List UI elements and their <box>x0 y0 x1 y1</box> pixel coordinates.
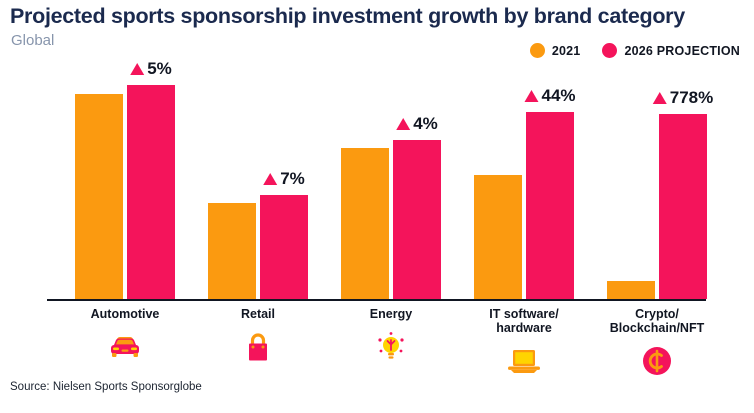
bar-2026-projection <box>526 112 574 299</box>
growth-label: 4% <box>396 114 438 134</box>
category-5: Crypto/ Blockchain/NFT <box>572 307 742 378</box>
bar-2021 <box>607 281 655 299</box>
growth-value: 7% <box>280 169 305 189</box>
bar-2021 <box>474 175 522 299</box>
source-note: Source: Nielsen Sports Sponsorglobe <box>10 381 202 393</box>
growth-label: 44% <box>524 86 575 106</box>
bar-chart-plot: 5%7%4%44%778% <box>0 0 754 305</box>
axis-baseline <box>47 299 706 301</box>
bar-2026-projection <box>659 114 707 299</box>
bar-2026-projection <box>260 195 308 299</box>
up-triangle-icon <box>524 90 538 102</box>
bar-2026-projection <box>393 140 441 299</box>
lightbulb-icon <box>376 331 406 363</box>
up-triangle-icon <box>396 118 410 130</box>
laptop-icon <box>506 347 542 375</box>
crypto-coin-icon <box>572 344 742 378</box>
growth-value: 778% <box>670 88 713 108</box>
crypto-coin-icon <box>641 345 673 377</box>
growth-label: 778% <box>653 88 713 108</box>
bar-2021 <box>341 148 389 299</box>
up-triangle-icon <box>653 92 667 104</box>
growth-label: 5% <box>130 59 172 79</box>
growth-value: 44% <box>541 86 575 106</box>
growth-value: 5% <box>147 59 172 79</box>
bar-2021 <box>208 203 256 299</box>
chart-page: Projected sports sponsorship investment … <box>0 0 754 413</box>
up-triangle-icon <box>263 173 277 185</box>
car-icon <box>108 334 142 360</box>
growth-value: 4% <box>413 114 438 134</box>
bar-2026-projection <box>127 85 175 299</box>
up-triangle-icon <box>130 63 144 75</box>
growth-label: 7% <box>263 169 305 189</box>
category-label: Crypto/ Blockchain/NFT <box>572 307 742 335</box>
shopping-bag-icon <box>245 332 271 362</box>
bar-2021 <box>75 94 123 299</box>
